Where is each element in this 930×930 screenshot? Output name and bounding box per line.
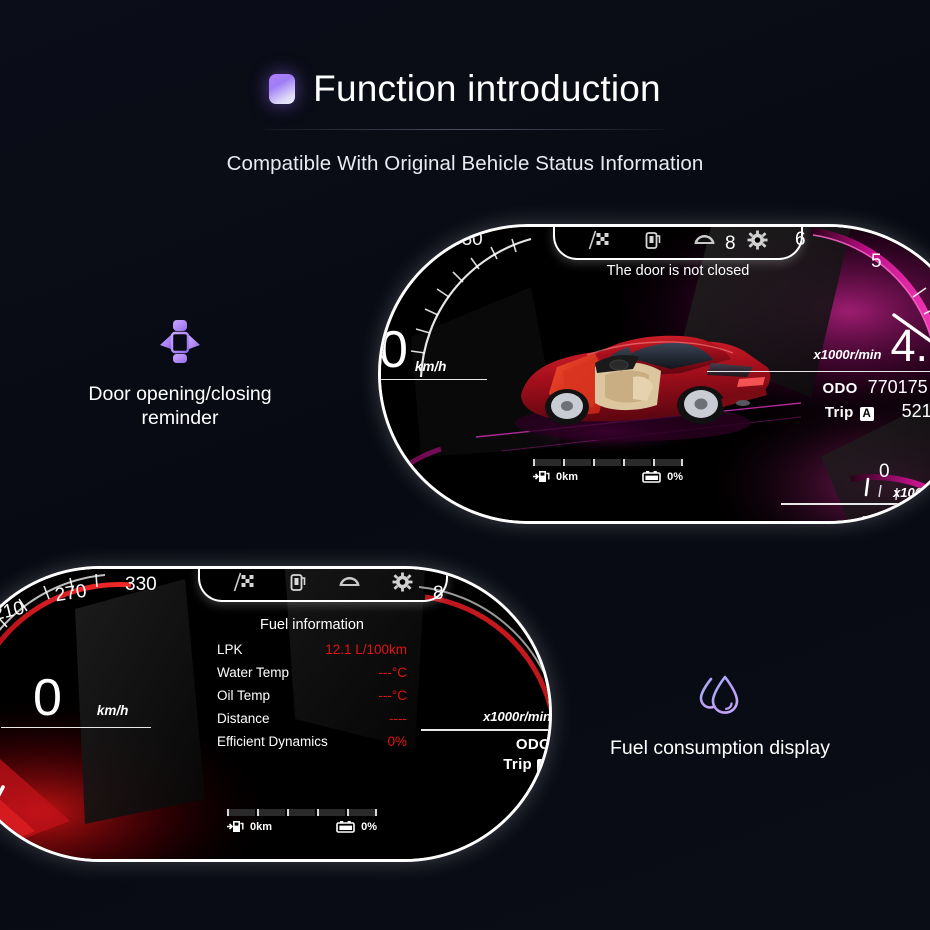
cluster-door-status-bar: 0km 0% [533,459,683,483]
trip-row: Trip A [421,756,549,773]
odo-value: 770175 [868,377,928,398]
range-indicator: 0km [533,470,578,483]
fuel-info-value: 0% [387,734,407,749]
fuel-info-key: Distance [217,711,270,726]
fuel-information-panel: Fuel information LPK 12.1 L/100km Water … [217,617,407,757]
cluster-door-toolbar[interactable] [587,230,770,250]
cluster-door-rpm-readout: x1000r/min 4.2 ODO 770175 km Trip A 521 … [707,325,930,422]
cluster-fuel-rpm-rule [421,729,549,731]
fuel-drops-icon [600,672,840,720]
page-subtitle: Compatible With Original Behicle Status … [0,152,930,176]
fuel-info-key: Efficient Dynamics [217,734,328,749]
instrument-cluster-fuel: 210 270 330 8 [0,566,552,862]
instrument-cluster-door: 330 8 6 5 0 [378,224,930,524]
fuel-info-value: ---- [389,711,407,726]
fuel-info-row: LPK 12.1 L/100km [217,642,407,657]
feature-door: Door opening/closing reminder [78,318,282,431]
door-warning-message: The door is not closed [607,263,750,279]
feature-door-caption: Door opening/closing reminder [78,382,282,431]
page-root: Function introduction Compatible With Or… [0,0,930,930]
range-segment-bar [533,459,683,466]
fuel-pump-icon [227,820,245,833]
cluster-fuel-speed-readout: 0 km/h [33,675,151,728]
fuel-info-row: Oil Temp ---°C [217,688,407,703]
trip-badge[interactable]: A [537,759,549,773]
page-header: Function introduction Compatible With Or… [0,0,930,176]
odo-label: ODO [823,380,858,397]
cluster-fuel-speed-unit: km/h [97,703,129,722]
cluster-door-speed-rule [381,379,487,381]
cluster-fuel-rpm-unit: x1000r/min [483,709,549,726]
fuel-pump-icon [533,470,551,483]
feature-fuel: Fuel consumption display [600,672,840,760]
cluster-door-speed-readout: 0 km/h [381,327,487,380]
cluster-fuel-odo-block: ODO Trip A [421,736,549,773]
cluster-door-rpm2-unit: x1000r/min [893,485,930,500]
cluster-door-rpm-value: 4.2 [890,325,930,368]
fuel-can-icon[interactable] [640,230,664,250]
fuel-info-value: ---°C [378,688,407,703]
car-doors-open-icon [78,318,282,366]
header-divider [265,129,665,130]
cluster-door-gear-indicator: D1 [861,513,889,521]
odo-row: ODO 770175 km [707,377,930,398]
checkered-flag-icon[interactable] [232,572,256,592]
car-front-icon[interactable] [338,572,362,592]
range-segment-bar [227,809,377,816]
cluster-door-rpm2-readout: x1000r/min [781,485,930,505]
battery-indicator: 0% [336,820,377,833]
gradient-square-icon [269,74,295,104]
fuel-info-value: ---°C [378,665,407,680]
fuel-info-key: Water Temp [217,665,289,680]
cluster-door-rpm-tick-5: 5 [871,251,882,273]
trip-value: 521 [902,401,930,422]
cluster-door-odo-block: ODO 770175 km Trip A 521 km [707,377,930,422]
odo-row: ODO [421,736,549,753]
cluster-door-rpm2-tick-0: 0 [879,461,890,483]
cluster-fuel-rpm-readout: x1000r/min ODO Trip A [421,709,549,773]
page-title: Function introduction [313,70,661,107]
fuel-can-icon[interactable] [285,572,309,592]
gear-icon[interactable] [391,572,415,592]
cluster-fuel-needle-unit: km/h [13,847,41,859]
battery-icon [336,820,356,833]
range-indicator: 0km [227,820,272,833]
cluster-fuel-speed-tick-330: 330 [125,574,157,596]
trip-label: Trip [825,404,854,421]
fuel-info-row: Water Temp ---°C [217,665,407,680]
cluster-door-rpm2-rule [781,503,930,505]
range-value: 0km [556,471,578,483]
cluster-fuel-status-bar: 0km 0% [227,809,377,833]
battery-indicator: 0% [642,470,683,483]
battery-value: 0% [667,471,683,483]
cluster-door-speed-tick-330: 330 [451,229,483,251]
fuel-info-row: Distance ---- [217,711,407,726]
checkered-flag-icon[interactable] [587,230,611,250]
fuel-info-row: Efficient Dynamics 0% [217,734,407,749]
car-front-icon[interactable] [693,230,717,250]
trip-row: Trip A 521 km [707,401,930,422]
cluster-door-rpm-unit: x1000r/min [814,347,882,368]
fuel-information-title: Fuel information [217,617,407,633]
title-row: Function introduction [0,0,930,107]
cluster-fuel-speed-rule [1,727,151,729]
fuel-info-key: Oil Temp [217,688,270,703]
gear-icon[interactable] [746,230,770,250]
trip-label: Trip [503,756,532,773]
battery-icon [642,470,662,483]
fuel-info-key: LPK [217,642,243,657]
range-value: 0km [250,821,272,833]
trip-badge[interactable]: A [860,407,874,421]
cluster-fuel-toolbar[interactable] [232,572,415,592]
battery-value: 0% [361,821,377,833]
fuel-info-value: 12.1 L/100km [325,642,407,657]
feature-fuel-caption: Fuel consumption display [600,736,840,760]
cluster-door-speed-value: 0 [381,327,407,374]
cluster-fuel-speed-value: 0 [33,675,61,722]
odo-label: ODO [516,736,549,753]
cluster-door-speed-unit: km/h [415,359,447,374]
